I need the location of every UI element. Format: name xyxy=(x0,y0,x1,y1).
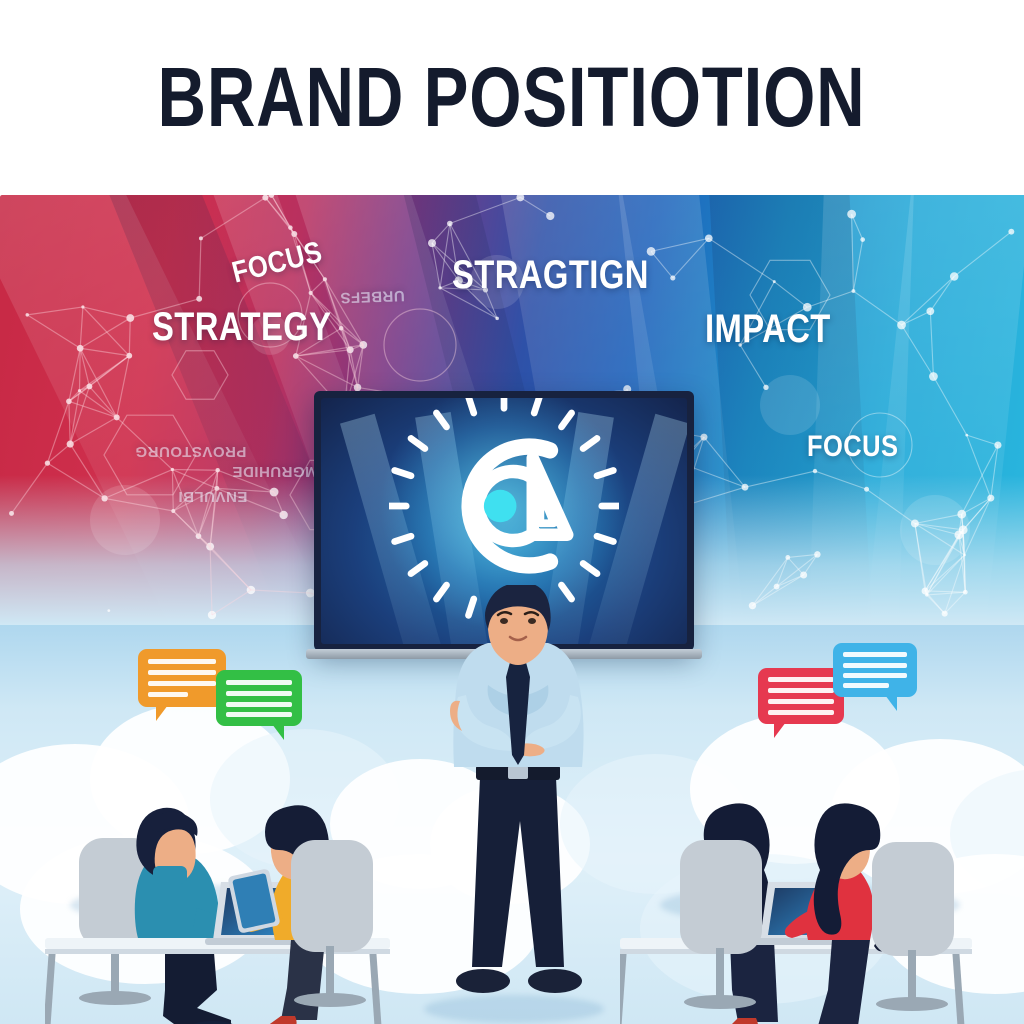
discussion-group-left xyxy=(45,690,400,1024)
speech-bubble-green xyxy=(216,670,302,726)
scene: FOCUSSTRATEGYSTRAGTIGNIMPACTFOCUS PROVST… xyxy=(0,195,1024,1024)
presenter-shoe xyxy=(456,969,510,993)
ghost-label-3: ENVULBI xyxy=(178,488,247,505)
speech-bubble-red xyxy=(758,668,844,724)
glow-blob xyxy=(760,375,820,435)
ghost-label-4: URBEFS xyxy=(340,287,405,306)
presenter-trousers xyxy=(472,777,564,967)
discussion-group-right xyxy=(620,690,980,1024)
keyword-strategy: STRATEGY xyxy=(152,305,331,350)
ghost-label-2: IMGRUHIDE xyxy=(232,463,322,480)
keyword-stragtign: STRAGTIGN xyxy=(452,253,649,298)
page-title: BRAND POSITIOTION xyxy=(158,49,866,146)
poster-header: BRAND POSITIOTION xyxy=(0,0,1024,195)
ghost-label-1: PROVSTOURG xyxy=(135,443,246,460)
speech-bubble-orange xyxy=(138,649,226,707)
poster-root: BRAND POSITIOTION FOCUSSTRATEGYSTRAGTIGN… xyxy=(0,0,1024,1024)
keyword-impact: IMPACT xyxy=(705,307,831,352)
speech-bubble-blue xyxy=(833,643,917,697)
chair xyxy=(872,842,954,1011)
glow-blob xyxy=(90,485,160,555)
presenter-shoe xyxy=(528,969,582,993)
presenter-figure xyxy=(428,585,608,1024)
keyword-focus-right: FOCUS xyxy=(807,430,898,464)
